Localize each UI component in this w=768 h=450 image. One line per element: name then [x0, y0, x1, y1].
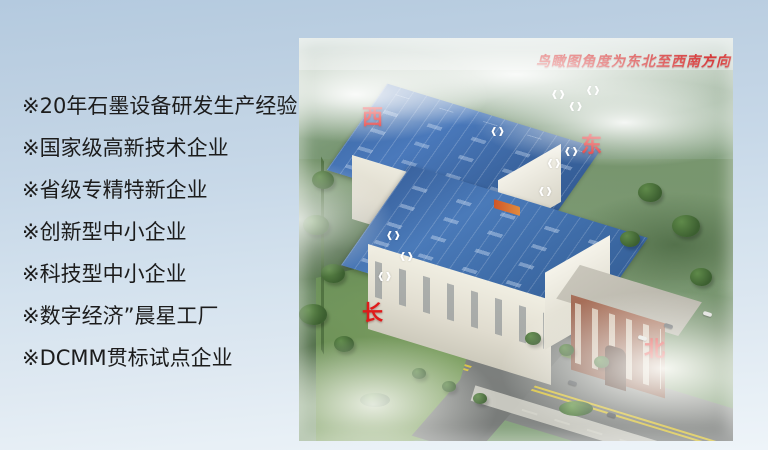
gate-archway: [605, 344, 626, 391]
tree: [638, 183, 662, 202]
bird: ❰❱: [538, 187, 553, 196]
bird: ❰❱: [490, 127, 505, 136]
tree: [312, 171, 334, 189]
bird: ❰❱: [546, 159, 561, 168]
bird: ❰❱: [386, 231, 401, 240]
tree: [321, 264, 345, 283]
list-item: ※国家级高新技术企业: [22, 138, 298, 159]
list-item: ※创新型中小企业: [22, 222, 298, 243]
bird: ❰❱: [399, 252, 414, 261]
list-item: ※科技型中小企业: [22, 264, 298, 285]
compass-label-east: 东: [581, 134, 602, 155]
list-item: ※20年石墨设备研发生产经验: [22, 96, 298, 117]
slide-canvas: ※20年石墨设备研发生产经验 ※国家级高新技术企业 ※省级专精特新企业 ※创新型…: [0, 0, 768, 450]
shrub: [360, 393, 390, 407]
aerial-view-caption: 鸟瞰图角度为东北至西南方向: [536, 51, 731, 71]
qualification-bullet-list: ※20年石墨设备研发生产经验 ※国家级高新技术企业 ※省级专精特新企业 ※创新型…: [22, 96, 298, 369]
bird: ❰❱: [585, 86, 600, 95]
list-item: ※DCMM贯标试点企业: [22, 348, 298, 369]
bird: ❰❱: [377, 272, 392, 281]
tree: [442, 381, 456, 392]
aerial-view-image: ❰❱ ❰❱ ❰❱ ❰❱ ❰❱ ❰❱ ❰❱ ❰❱ ❰❱ ❰❱ 鸟瞰图角度为东北至西…: [299, 38, 733, 441]
compass-label-north: 北: [644, 338, 665, 359]
compass-label-length: 长: [362, 302, 383, 323]
tree: [334, 336, 354, 352]
tree: [672, 215, 700, 237]
gate-office-building: [568, 280, 698, 401]
tree: [525, 332, 541, 345]
bird: ❰❱: [568, 102, 583, 111]
shrub: [559, 401, 593, 416]
bird: ❰❱: [564, 147, 579, 156]
list-item: ※省级专精特新企业: [22, 180, 298, 201]
tree: [690, 268, 712, 286]
list-item: ※数字经济”晨星工厂: [22, 306, 298, 327]
tree: [473, 393, 487, 404]
bird: ❰❱: [551, 90, 566, 99]
tree: [299, 304, 327, 325]
compass-label-west: 西: [362, 106, 383, 127]
